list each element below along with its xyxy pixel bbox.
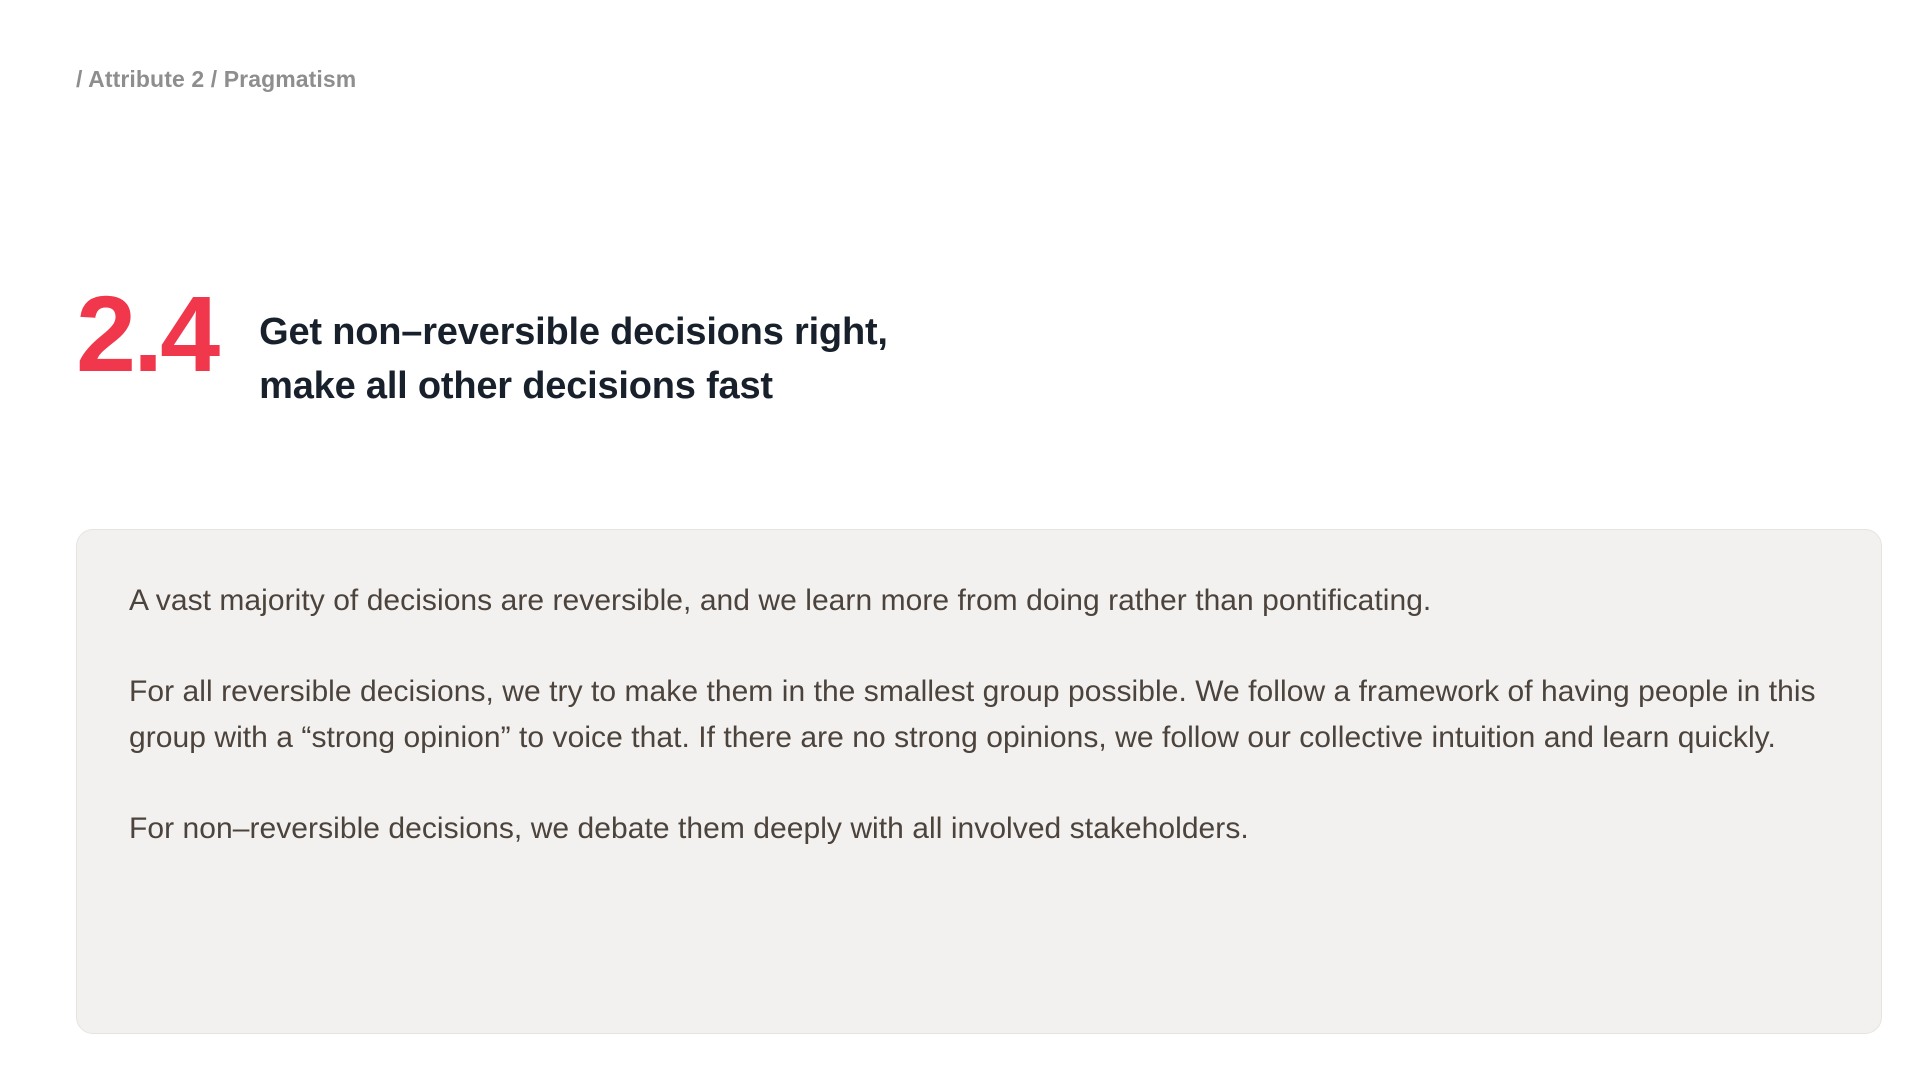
breadcrumb: / Attribute 2 / Pragmatism — [76, 66, 356, 94]
page-title: Get non–reversible decisions right, make… — [259, 306, 888, 414]
headline-block: 2.4 Get non–reversible decisions right, … — [76, 284, 888, 439]
body-paragraph: For all reversible decisions, we try to … — [129, 669, 1829, 760]
page-title-line-1: Get non–reversible decisions right, — [259, 306, 888, 360]
body-paragraph: A vast majority of decisions are reversi… — [129, 578, 1829, 624]
slide-canvas: / Attribute 2 / Pragmatism 2.4 Get non–r… — [0, 0, 1920, 1080]
section-number: 2.4 — [76, 290, 217, 379]
body-card: A vast majority of decisions are reversi… — [76, 529, 1882, 1034]
page-title-line-2: make all other decisions fast — [259, 360, 888, 414]
body-paragraph: For non–reversible decisions, we debate … — [129, 806, 1829, 852]
